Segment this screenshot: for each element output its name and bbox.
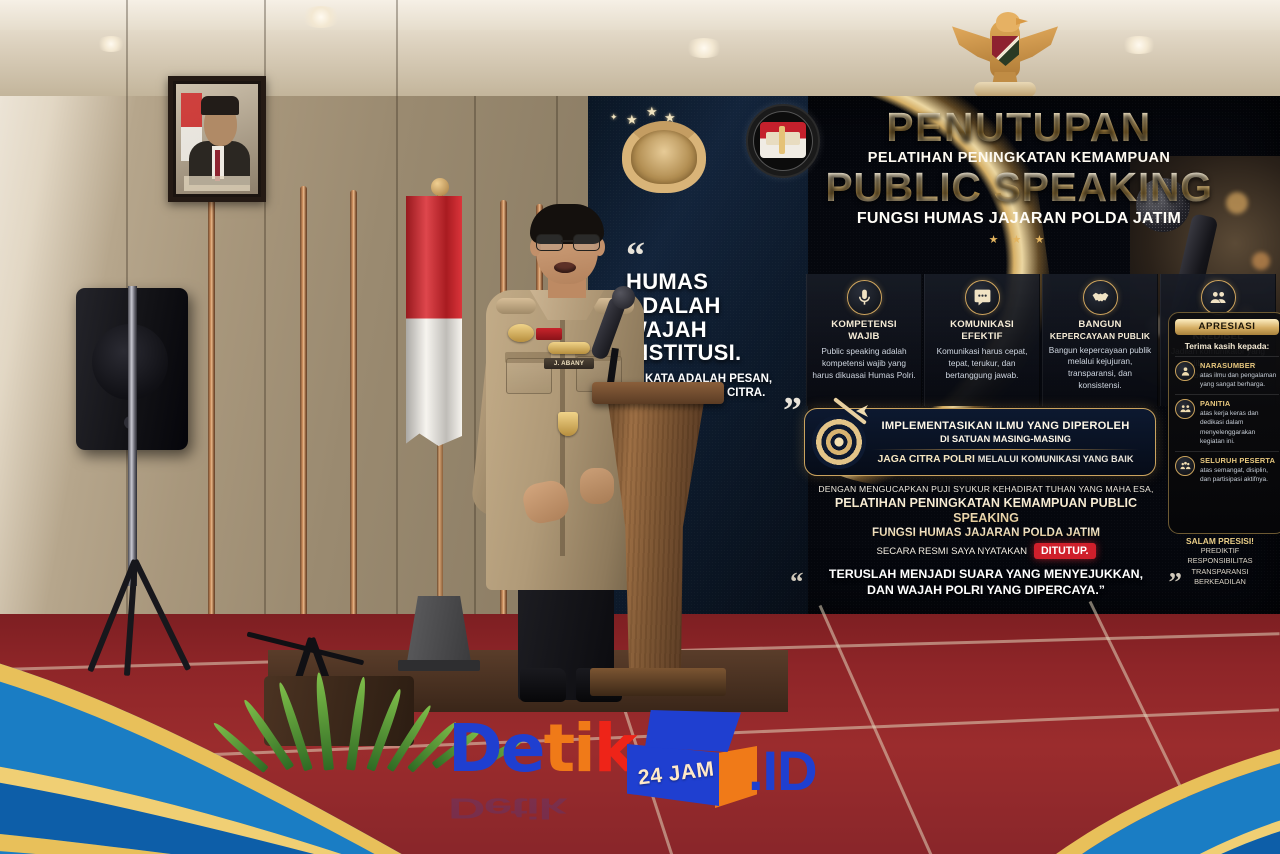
lectern-base (590, 668, 726, 696)
pillar-bangun-kepercayaan: BANGUN KEPERCAYAAN PUBLIK Bangun keperca… (1042, 274, 1158, 406)
microphone-icon (847, 280, 882, 315)
declaration-line-2: PELATIHAN PENINGKATAN KEMAMPUAN PUBLIC S… (812, 496, 1160, 526)
pillar-kompetensi-wajib: KOMPETENSI WAJIB Public speaking adalah … (806, 274, 922, 406)
apresiasi-item: PANITIA atas kerja keras dan dedikasi da… (1175, 394, 1279, 451)
salam-presisi-title: SALAM PRESISI! (1166, 536, 1274, 546)
pillar-title-line2: KEPERCAYAAN PUBLIK (1048, 331, 1152, 341)
eyeglass-lens-right (573, 234, 600, 251)
pillar-title-line2: WAJIB (812, 331, 916, 343)
closing-quote-block: “ TERUSLAH MENJADI SUARA YANG MENYEJUKKA… (790, 566, 1182, 598)
bokeh-light (1226, 192, 1248, 214)
wall-seam (474, 96, 476, 656)
band-line-3-rest: MELALUI KOMUNIKASI YANG BAIK (978, 454, 1134, 464)
bokeh-light (1252, 252, 1270, 270)
carpet-grid-line (1089, 601, 1223, 854)
title-subtitle-2: FUNGSI HUMAS JAJARAN POLDA JATIM (810, 210, 1228, 228)
pillar-body: Public speaking adalah kompetensi wajib … (812, 346, 916, 381)
band-divider (872, 449, 1139, 450)
pillar-body: Bangun kepercayaan publik melalui kejuju… (1048, 345, 1152, 392)
pillar-title-line2: EFEKTIF (930, 331, 1034, 343)
band-line-1: IMPLEMENTASIKAN ILMU YANG DIPEROLEH (866, 420, 1145, 432)
detik-watermark: Detik Detik 24 JAM .ID (448, 700, 868, 820)
indonesian-flag (406, 196, 462, 446)
title-stars: ★ ★ ★ (810, 233, 1228, 246)
handshake-icon (1083, 280, 1118, 315)
band-line-2: DI SATUAN MASING-MASING (866, 433, 1145, 444)
pillar-title-line1: KOMPETENSI (812, 319, 916, 331)
portrait-peci-cap (201, 96, 239, 115)
uniform-rank-patch (536, 328, 562, 340)
downlight (300, 6, 342, 28)
watermark-wordmark: Detik (448, 716, 636, 782)
closing-quote-open-mark: “ (790, 574, 804, 590)
presisi-line-2: RESPONSIBILITAS (1166, 556, 1274, 566)
flag-finial (431, 178, 449, 196)
pillar-title-line1: BANGUN (1048, 319, 1152, 331)
apresiasi-header: APRESIASI (1175, 319, 1279, 335)
participants-icon (1175, 456, 1195, 476)
quote-open-mark: “ (626, 246, 802, 266)
podium-microphone-head (612, 286, 635, 309)
watermark-reflection: Detik (448, 792, 565, 825)
quote-line-1: HUMAS (626, 270, 802, 294)
garuda-wing-right (1014, 24, 1058, 64)
official-portrait-frame (168, 76, 266, 202)
watermark-tld: .ID (748, 738, 817, 803)
officer-boot (520, 668, 566, 702)
apresiasi-subtitle: Terima kasih kepada: (1175, 341, 1279, 351)
pillar-komunikasi-efektif: KOMUNIKASI EFEKTIF Komunikasi harus cepa… (924, 274, 1040, 406)
quote-line-2: ADALAH (626, 294, 802, 318)
committee-icon (1175, 399, 1195, 419)
metal-pedestal-base (398, 660, 480, 671)
lectern-column (608, 402, 704, 674)
band-line-3-strong: JAGA CITRA POLRI (878, 454, 975, 465)
lectern-desktop (592, 382, 724, 404)
uniform-insignia-badge (508, 324, 534, 342)
officer-mouth-speaking (554, 262, 576, 273)
salam-presisi-block: SALAM PRESISI! PREDIKTIF RESPONSIBILITAS… (1166, 536, 1274, 587)
flag-fold-shading (406, 196, 462, 446)
backdrop-emblem-row: ★ ★ ★ ✦ (616, 104, 820, 178)
apresiasi-item: SELURUH PESERTA atas semangat, disiplin,… (1175, 451, 1279, 489)
photo-canvas: ★ ★ ★ ✦ PENUTUPAN PELATIHAN PENINGKATAN … (0, 0, 1280, 854)
apresiasi-item-title: SELURUH PESERTA (1200, 456, 1279, 465)
title-penutupan: PENUTUPAN (810, 108, 1228, 147)
pillar-title-line1: KOMUNIKASI (930, 319, 1034, 331)
declaration-line-1: DENGAN MENGUCAPKAN PUJI SYUKUR KEHADIRAT… (812, 484, 1160, 494)
wall-copper-trim (350, 190, 357, 656)
wm-letter-t: t (544, 710, 574, 787)
apresiasi-item-title: PANITIA (1200, 399, 1279, 408)
title-public-speaking: PUBLIC SPEAKING (810, 167, 1228, 208)
uniform-chest-badge (558, 412, 578, 436)
wm-letter-e: e (501, 710, 544, 787)
speaker-stand-pole (128, 286, 137, 586)
target-dartboard-icon (812, 415, 866, 469)
ditutup-badge: DITUTUP. (1034, 543, 1095, 559)
portrait-caption-plate (184, 176, 250, 190)
wooden-lectern (592, 382, 724, 712)
apresiasi-item-desc: atas kerja keras dan dedikasi dalam meny… (1200, 409, 1279, 447)
closing-declaration: DENGAN MENGUCAPKAN PUJI SYUKUR KEHADIRAT… (812, 484, 1160, 559)
quote-line-3: WAJAH (626, 318, 802, 342)
officer-nameplate: J. ABANY (544, 358, 594, 369)
apresiasi-item-title: NARASUMBER (1200, 361, 1279, 370)
apresiasi-panel: APRESIASI Terima kasih kepada: NARASUMBE… (1168, 312, 1280, 534)
closing-quote-line-2: DAN WAJAH POLRI YANG DIPERCAYA.” (812, 582, 1161, 598)
apresiasi-item-desc: atas ilmu dan pengalaman yang sangat ber… (1200, 371, 1279, 390)
wall-seam (396, 0, 398, 664)
declaration-line-3: FUNGSI HUMAS JAJARAN POLDA JATIM (812, 526, 1160, 540)
implementation-band: IMPLEMENTASIKAN ILMU YANG DIPEROLEH DI S… (804, 408, 1156, 476)
garuda-motto-scroll (974, 82, 1036, 97)
wm-letter-d: D (448, 710, 501, 787)
officer-name-text: J. ABANY (554, 360, 584, 367)
person-speaker-icon (1175, 361, 1195, 381)
apresiasi-item-desc: atas semangat, disiplin, dan partisipasi… (1200, 466, 1279, 485)
chat-bubble-icon (965, 280, 1000, 315)
wall-copper-trim (300, 186, 307, 656)
garuda-beak (1016, 18, 1028, 25)
downlight (96, 36, 126, 52)
people-group-icon (1201, 280, 1236, 315)
polri-wreath-emblem: ★ ★ ★ ✦ (616, 105, 694, 177)
declaration-line-4: SECARA RESMI SAYA NYATAKAN (876, 546, 1027, 557)
wall-copper-trim (208, 172, 215, 652)
officer-shoulder-left (496, 298, 536, 314)
box-top-face (645, 710, 741, 752)
official-portrait-image (176, 84, 258, 194)
quote-line-4: INSTITUSI. (626, 341, 802, 365)
downlight (684, 38, 724, 58)
eyeglass-lens-left (536, 234, 563, 251)
eyeglass-bridge (561, 240, 573, 242)
pillar-body: Komunikasi harus cepat, tepat, terukur, … (930, 346, 1034, 381)
presisi-line-1: PREDIKTIF (1166, 546, 1274, 556)
garuda-pancasila-emblem (952, 2, 1058, 106)
backdrop-title-block: PENUTUPAN PELATIHAN PENINGKATAN KEMAMPUA… (810, 108, 1228, 246)
officer-eyeglasses (536, 234, 598, 249)
wreath-laurel (622, 121, 706, 193)
presisi-line-3: TRANSPARANSI BERKEADILAN (1166, 567, 1274, 588)
ceiling-strip (0, 0, 1280, 30)
closing-quote-line-1: TERUSLAH MENJADI SUARA YANG MENYEJUKKAN, (812, 566, 1161, 582)
apresiasi-item: NARASUMBER atas ilmu dan pengalaman yang… (1175, 356, 1279, 394)
wm-letter-i: i (573, 710, 594, 787)
downlight (1120, 36, 1158, 54)
humas-polri-badge (746, 104, 820, 178)
uniform-wing-badge (548, 342, 590, 354)
badge-torch (779, 126, 785, 154)
